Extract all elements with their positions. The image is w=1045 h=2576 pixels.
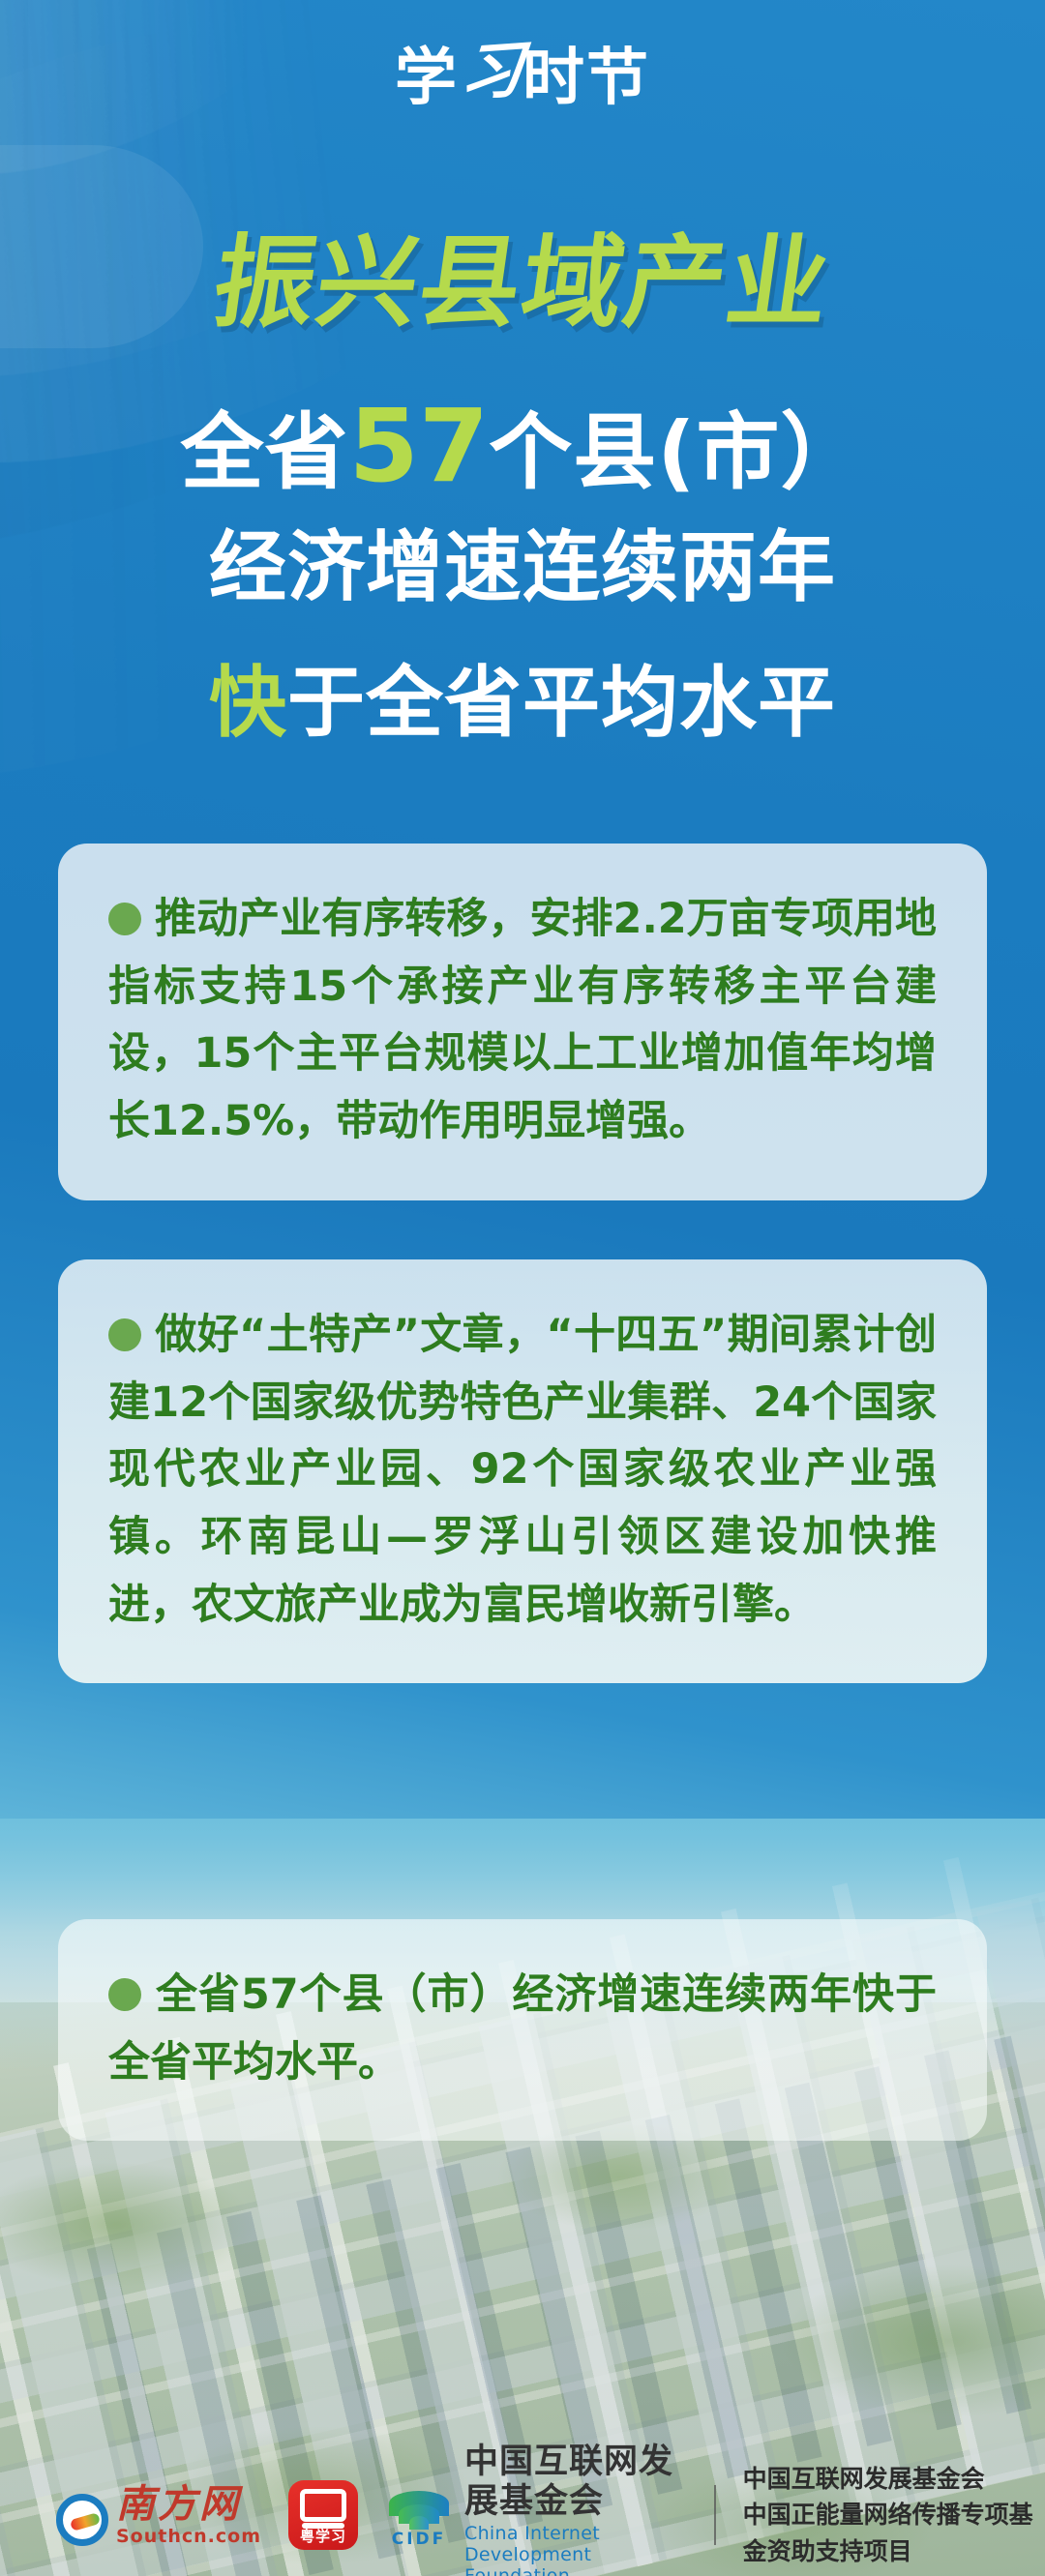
card-1-paragraph: 推动产业有序转移，安排2.2万亩专项用地指标支持15个承接产业有序转移主平台建设… <box>108 886 937 1156</box>
subheadline-line1-suffix: 个县(市） <box>489 404 864 501</box>
subheadline-line-2: 经济增速连续两年 <box>0 528 1045 607</box>
cidf-abbreviation: CIDF <box>385 2530 453 2549</box>
yuexuexi-glyph-icon <box>300 2489 346 2522</box>
infographic-poster: 学习时节 振兴县域产业 全省57个县(市） 经济增速连续两年 快于全省平均水平 … <box>0 0 1045 2576</box>
brand-logo-part2: 时节 <box>522 43 650 114</box>
southcn-name-en: Southcn.com <box>116 2528 261 2546</box>
bullet-icon <box>108 1318 141 1351</box>
brand-logo-brush-char: 习 <box>458 40 527 105</box>
subheadline-line-1: 全省57个县(市） <box>0 395 1045 497</box>
headline-block: 振兴县域产业 <box>0 228 1045 337</box>
brand-logo: 学习时节 <box>0 37 1045 120</box>
subheadline-line1-prefix: 全省 <box>180 404 348 501</box>
southcn-name-cn: 南方网 <box>116 2485 261 2524</box>
card-1-text: 推动产业有序转移，安排2.2万亩专项用地指标支持15个承接产业有序转移主平台建设… <box>108 895 937 1145</box>
bullet-icon <box>108 1978 141 2011</box>
yuexuexi-app-icon[interactable]: 粤学习 <box>288 2480 358 2550</box>
southcn-wordmark: 南方网 Southcn.com <box>116 2485 261 2546</box>
content-card-2: 做好“土特产”文章，“十四五”期间累计创建12个国家级优势特色产业集群、24个国… <box>58 1259 987 1683</box>
sponsor-note-line-1: 中国互联网发展基金会 <box>743 2461 1045 2498</box>
card-2-text: 做好“土特产”文章，“十四五”期间累计创建12个国家级优势特色产业集群、24个国… <box>108 1311 937 1629</box>
card-2-paragraph: 做好“土特产”文章，“十四五”期间累计创建12个国家级优势特色产业集群、24个国… <box>108 1302 937 1639</box>
card-3-text: 全省57个县（市）经济增速连续两年快于全省平均水平。 <box>108 1970 937 2087</box>
southcn-logo[interactable]: 南方网 Southcn.com <box>56 2485 261 2546</box>
cidf-wave-arc-3 <box>409 2516 429 2530</box>
cidf-wave-icon: CIDF <box>385 2481 453 2549</box>
sponsor-note-line-2: 中国正能量网络传播专项基金资助支持项目 <box>743 2497 1045 2569</box>
card-3-paragraph: 全省57个县（市）经济增速连续两年快于全省平均水平。 <box>108 1962 937 2096</box>
cidf-name-en: China Internet Development Foundation <box>464 2524 687 2576</box>
subheadline-line3-rest: 于全省平均水平 <box>287 658 836 748</box>
content-card-1: 推动产业有序转移，安排2.2万亩专项用地指标支持15个承接产业有序转移主平台建设… <box>58 844 987 1200</box>
content-card-3: 全省57个县（市）经济增速连续两年快于全省平均水平。 <box>58 1919 987 2141</box>
cidf-wordmark: 中国互联网发展基金会 China Internet Development Fo… <box>464 2443 687 2576</box>
cidf-name-cn: 中国互联网发展基金会 <box>464 2443 687 2521</box>
cidf-logo[interactable]: CIDF 中国互联网发展基金会 China Internet Developme… <box>385 2443 687 2576</box>
southcn-swirl-icon <box>56 2494 108 2546</box>
county-count-number: 57 <box>348 387 489 505</box>
bullet-icon <box>108 903 141 935</box>
subheadline-line3-accent: 快 <box>209 658 287 748</box>
sponsor-note: 中国互联网发展基金会 中国正能量网络传播专项基金资助支持项目 <box>743 2461 1045 2570</box>
footer-divider <box>714 2485 715 2545</box>
footer-bar: 南方网 Southcn.com 粤学习 CIDF 中国互联网发展基金会 Chin… <box>0 2469 1045 2561</box>
brand-logo-part1: 学 <box>395 43 459 114</box>
headline-main: 振兴县域产业 <box>207 228 838 337</box>
subheadline-line-3: 快于全省平均水平 <box>0 664 1045 743</box>
brand-logo-text: 学习时节 <box>395 47 650 109</box>
yuexuexi-label: 粤学习 <box>288 2526 358 2546</box>
